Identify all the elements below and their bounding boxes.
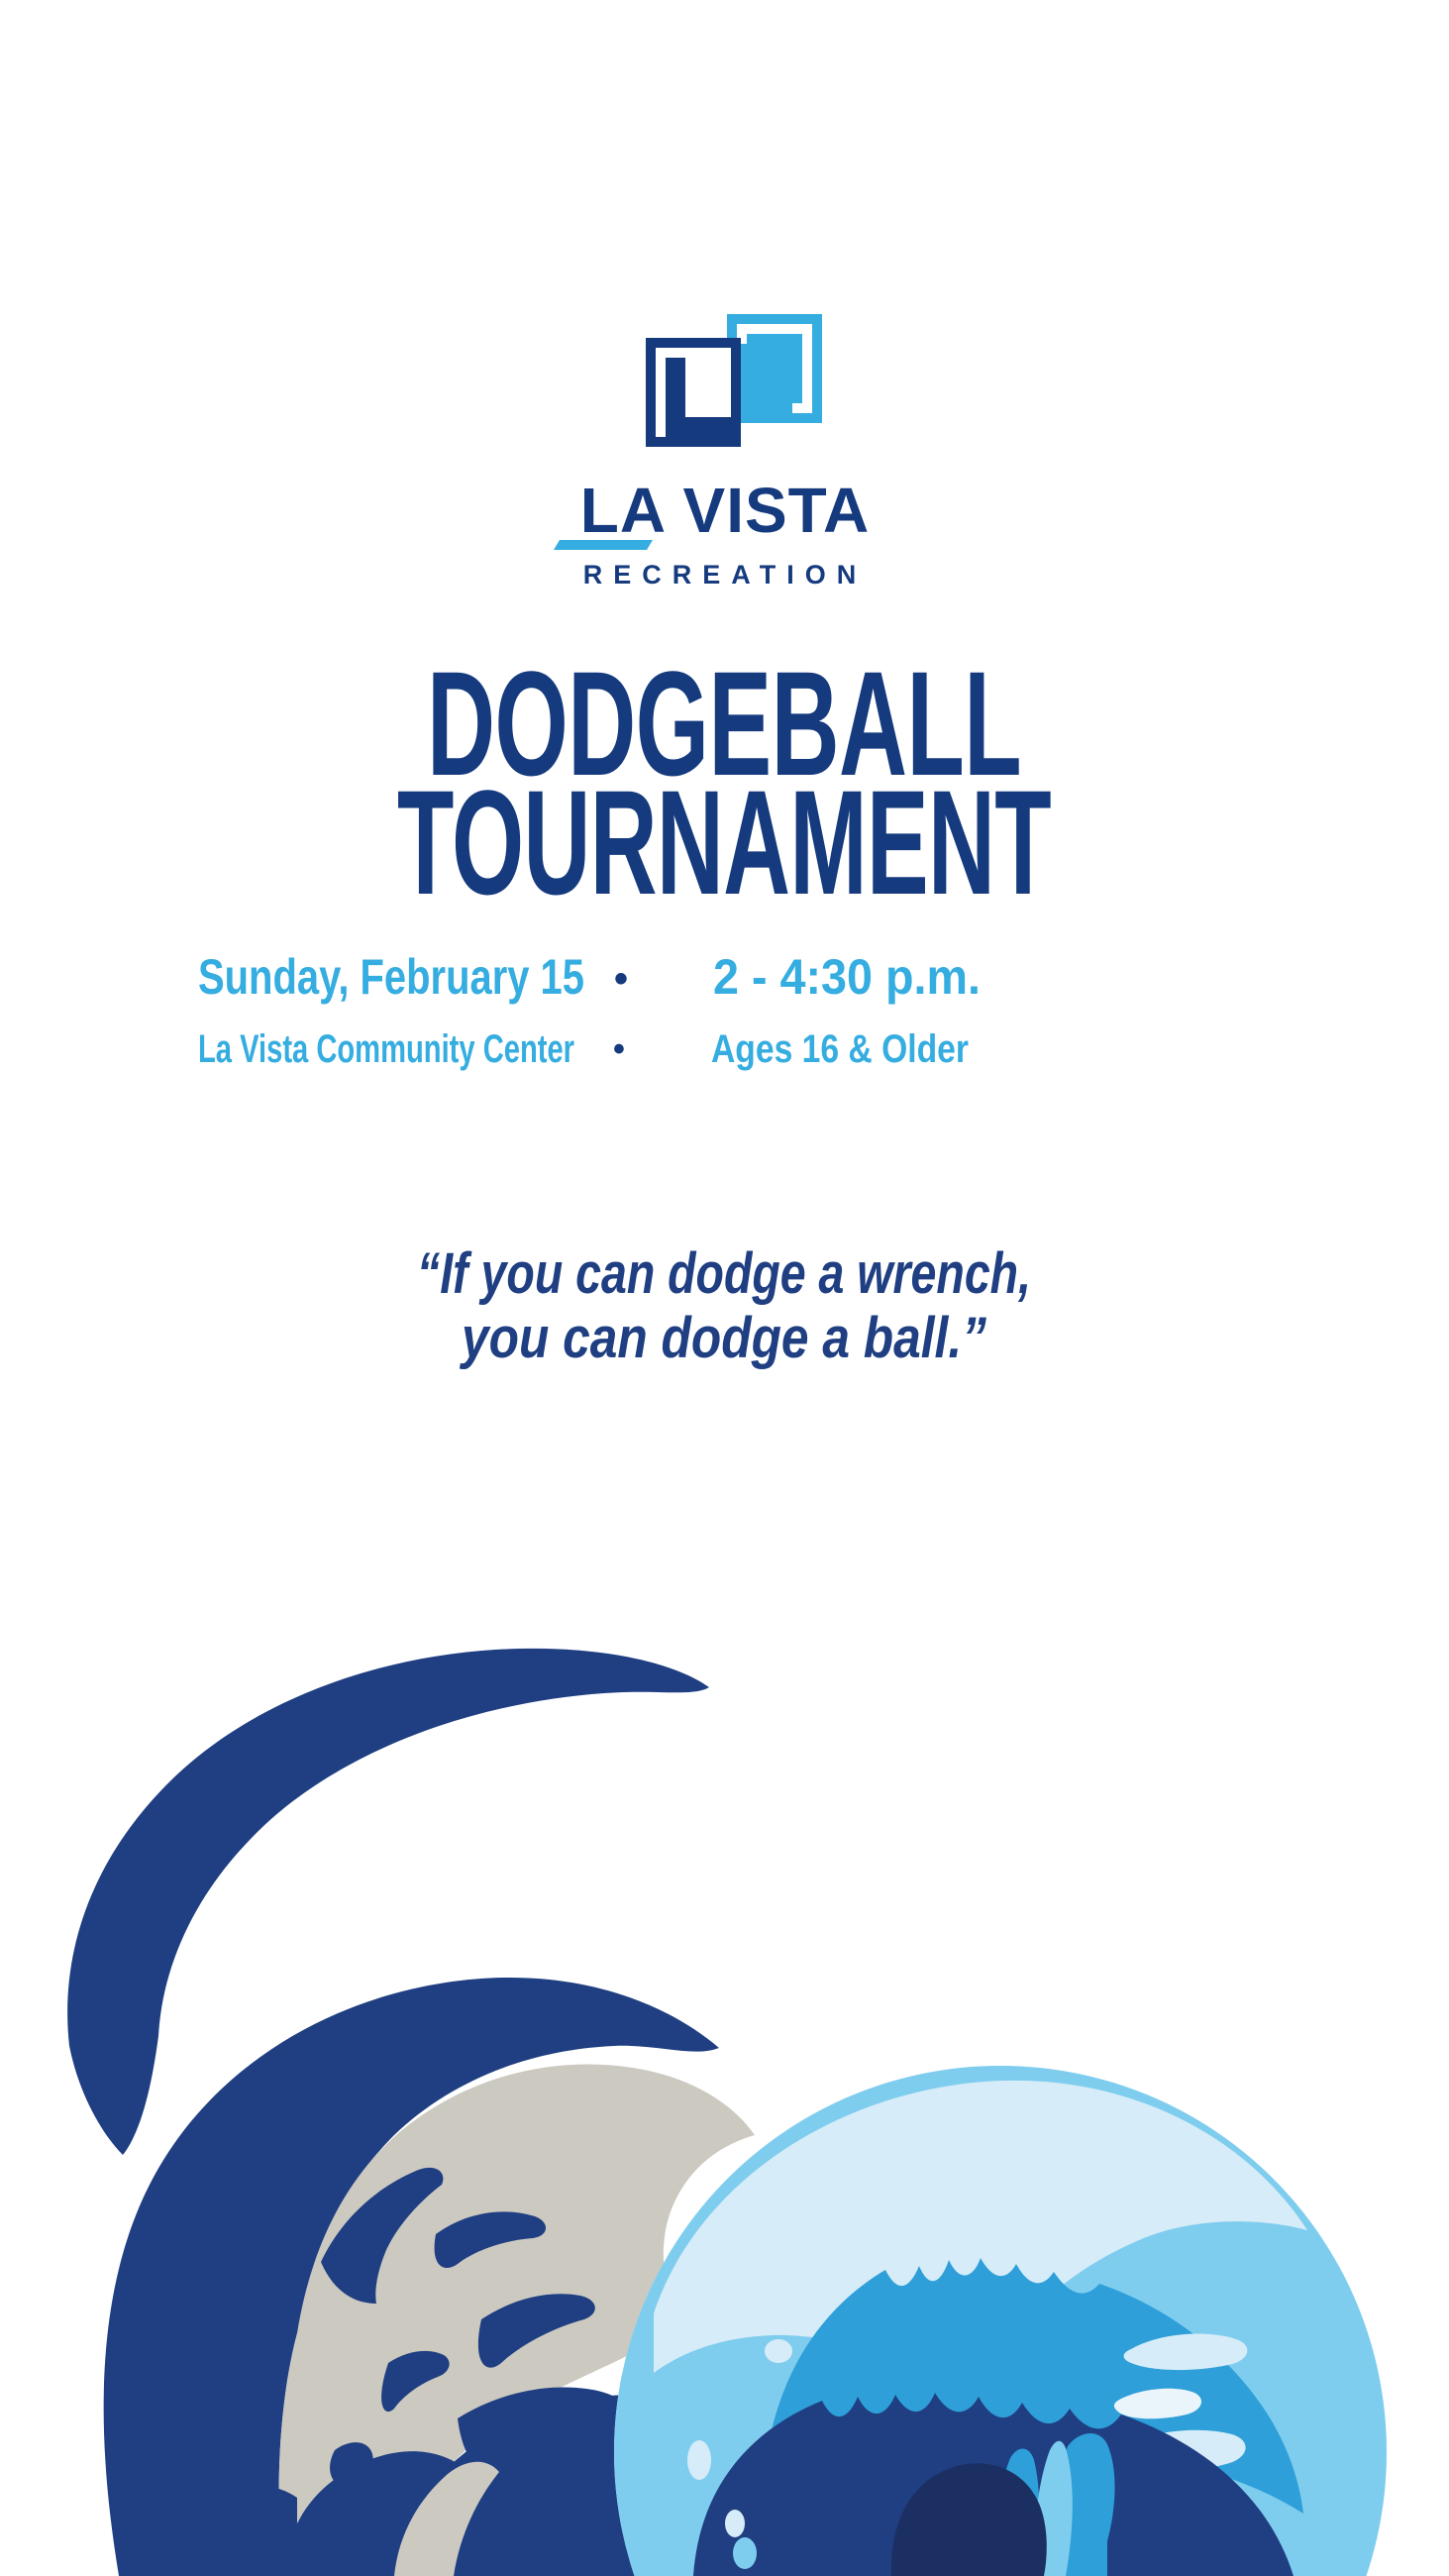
la-vista-wordmark: LA VISTA bbox=[512, 475, 938, 550]
quote-text-line-2: you can dodge a ball.” bbox=[459, 1306, 986, 1370]
logo-wordmark-text: LA VISTA bbox=[579, 475, 869, 546]
details-row-2-svg: La Vista Community Center • Ages 16 & Ol… bbox=[0, 1020, 1449, 1080]
la-vista-recreation-logo: LA VISTA RECREATION bbox=[0, 312, 1449, 591]
headline-line-2: TOURNAMENT bbox=[0, 773, 1449, 921]
headline-text-tournament: TOURNAMENT bbox=[397, 773, 1051, 921]
event-time: 2 - 4:30 p.m. bbox=[713, 949, 981, 1005]
dodgeball-player-with-ball-illustration bbox=[0, 1442, 1449, 2576]
logo-subtitle: RECREATION bbox=[492, 558, 958, 591]
logo-subtitle-text: RECREATION bbox=[582, 560, 867, 590]
event-details-row-2: La Vista Community Center • Ages 16 & Ol… bbox=[0, 1020, 1449, 1080]
poster-canvas: LA VISTA RECREATION DODGEBALL TOURNAMENT… bbox=[0, 0, 1449, 2576]
details-separator-1: • bbox=[614, 957, 628, 1001]
la-vista-interlocking-l-mark bbox=[626, 312, 824, 461]
event-details-row-1: Sunday, February 15 • 2 - 4:30 p.m. bbox=[0, 946, 1449, 1010]
illustration-svg bbox=[0, 1442, 1449, 2576]
details-row-1-svg: Sunday, February 15 • 2 - 4:30 p.m. bbox=[0, 946, 1449, 1010]
page-title-line2: TOURNAMENT bbox=[0, 773, 1449, 921]
quote-text-line-1: “If you can dodge a wrench, bbox=[417, 1241, 1031, 1306]
movie-quote-line2: you can dodge a ball.” bbox=[0, 1298, 1449, 1377]
event-age-requirement: Ages 16 & Older bbox=[711, 1027, 969, 1071]
event-date: Sunday, February 15 bbox=[198, 949, 584, 1005]
event-location: La Vista Community Center bbox=[198, 1027, 574, 1071]
details-separator-2: • bbox=[613, 1030, 625, 1068]
quote-line-2-svg: you can dodge a ball.” bbox=[0, 1298, 1449, 1377]
la-accent-bar bbox=[554, 540, 653, 550]
